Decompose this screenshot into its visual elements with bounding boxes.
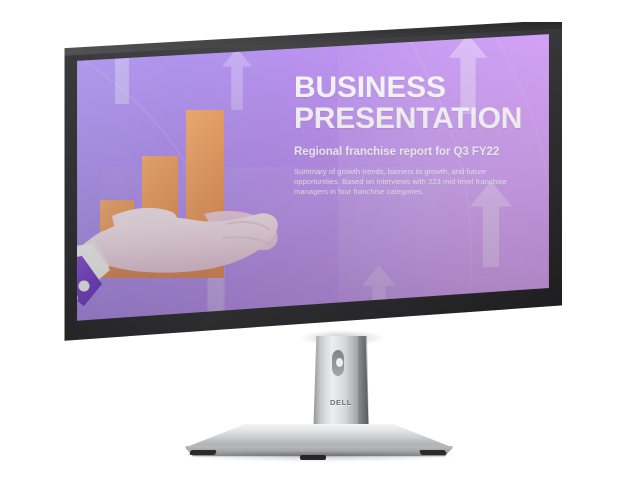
slide-subtitle: Regional franchise report for Q3 FY22 xyxy=(294,145,550,159)
dell-monitor: BUSINESS PRESENTATION Regional franchise… xyxy=(0,0,640,480)
illustration-sleeve-dot xyxy=(79,281,90,292)
hand-holding-growth-bars-illustration xyxy=(76,94,286,324)
cable-slot-highlight xyxy=(336,358,343,367)
dell-brand-logo: DELL xyxy=(313,398,369,407)
slide-body-text: Summary of growth trends, barriers to gr… xyxy=(294,167,530,198)
stand-foot-left xyxy=(189,450,217,455)
stand-foot-center xyxy=(300,455,326,460)
stand-foot-right xyxy=(419,450,447,455)
slide-text-block: BUSINESS PRESENTATION Regional franchise… xyxy=(294,72,550,198)
slide-title: BUSINESS PRESENTATION xyxy=(294,72,550,134)
product-photo-canvas: BUSINESS PRESENTATION Regional franchise… xyxy=(0,0,640,480)
decorative-up-arrow-icon xyxy=(104,30,140,104)
